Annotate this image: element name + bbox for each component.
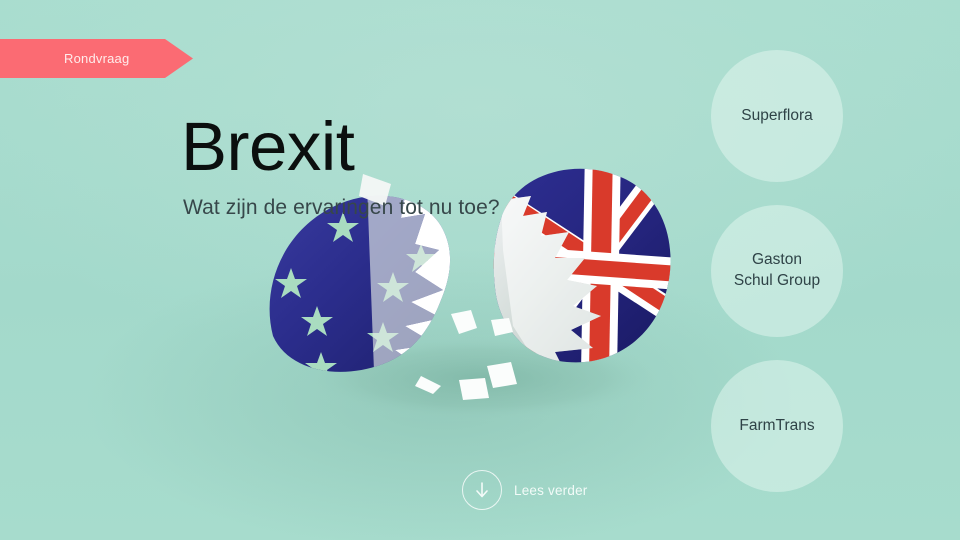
organization-circle-superflora[interactable]: Superflora: [711, 50, 843, 182]
arrow-down-icon[interactable]: [462, 470, 502, 510]
page-subtitle: Wat zijn de ervaringen tot nu toe?: [183, 196, 500, 220]
read-more-control[interactable]: Lees verder: [462, 470, 588, 510]
organization-circle-farmtrans[interactable]: FarmTrans: [711, 360, 843, 492]
category-ribbon[interactable]: Rondvraag: [0, 39, 193, 78]
organization-circle-gaston-schul-group[interactable]: Gaston Schul Group: [711, 205, 843, 337]
category-ribbon-label: Rondvraag: [0, 51, 129, 66]
organization-label: FarmTrans: [739, 416, 814, 437]
organization-label: Superflora: [741, 106, 813, 127]
organization-list: Superflora Gaston Schul Group FarmTrans: [711, 50, 845, 515]
shell-fragment: [459, 378, 489, 400]
page-title: Brexit: [181, 112, 354, 181]
read-more-label: Lees verder: [514, 483, 588, 498]
organization-label: Gaston Schul Group: [734, 250, 820, 292]
shell-fragment: [451, 310, 477, 334]
shell-fragment: [491, 318, 513, 336]
slide-root: Rondvraag: [0, 0, 960, 540]
